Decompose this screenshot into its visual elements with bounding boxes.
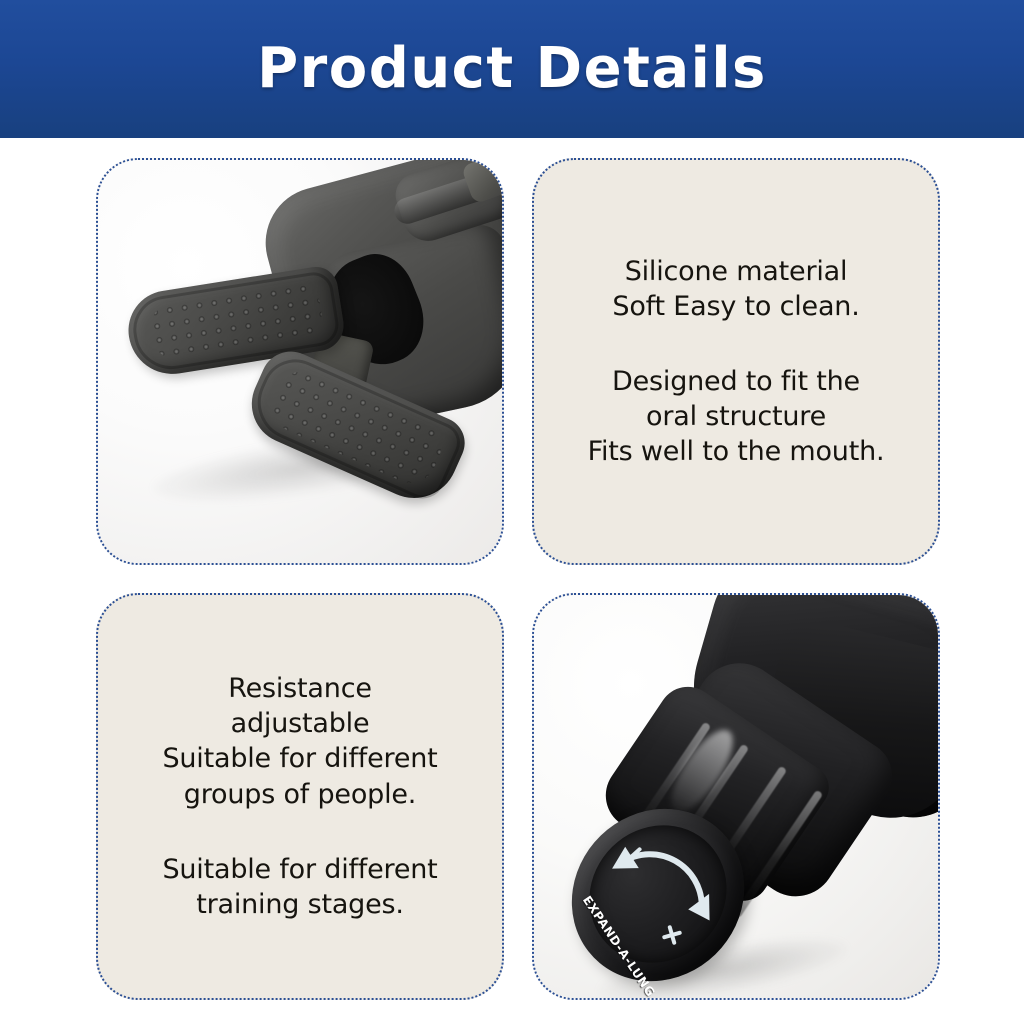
page-header: Product Details [0, 0, 1024, 138]
resistance-line-1: Resistance [108, 671, 492, 706]
product-details-page: Product Details [0, 0, 1024, 1024]
page-title: Product Details [257, 41, 767, 97]
mouthpiece-photo [98, 160, 502, 563]
resistance-line-4: groups of people. [108, 777, 492, 812]
fit-line-2: oral structure [544, 399, 928, 434]
stages-line-1: Suitable for different [108, 852, 492, 887]
silicone-line-1: Silicone material [544, 254, 928, 289]
card-mouthpiece-photo[interactable] [96, 158, 504, 565]
stages-line-2: training stages. [108, 887, 492, 922]
resistance-dial-photo: EXPAND-A-LUNG [534, 595, 938, 998]
resistance-line-3: Suitable for different [108, 741, 492, 776]
fit-line-1: Designed to fit the [544, 364, 928, 399]
card-resistance-text[interactable]: Resistance adjustable Suitable for diffe… [96, 593, 504, 1000]
resistance-line-2: adjustable [108, 706, 492, 741]
fit-line-3: Fits well to the mouth. [544, 434, 928, 469]
card-resistance-dial-photo[interactable]: EXPAND-A-LUNG [532, 593, 940, 1000]
card-silicone-text[interactable]: Silicone material Soft Easy to clean. De… [532, 158, 940, 565]
product-details-grid: Silicone material Soft Easy to clean. De… [96, 158, 940, 1000]
resistance-text-block: Resistance adjustable Suitable for diffe… [98, 595, 502, 998]
silicone-text-block: Silicone material Soft Easy to clean. De… [534, 160, 938, 563]
silicone-line-2: Soft Easy to clean. [544, 289, 928, 324]
